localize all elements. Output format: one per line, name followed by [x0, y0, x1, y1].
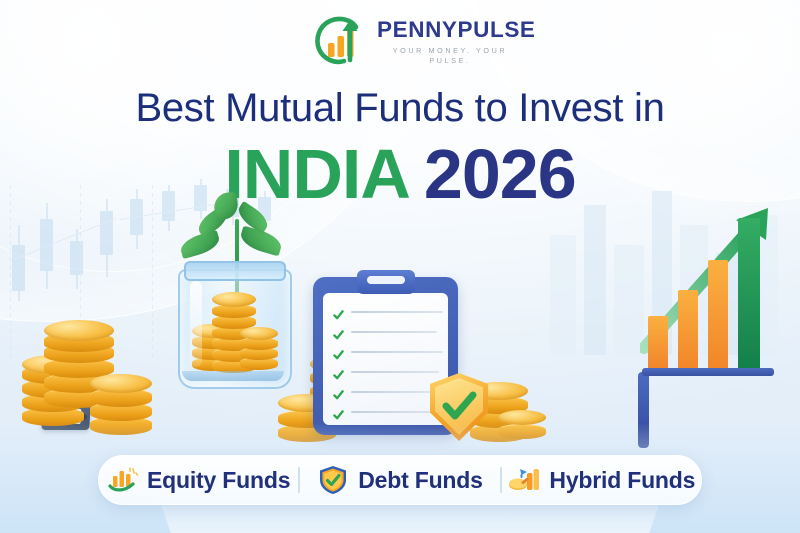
jar-highlight	[190, 281, 202, 367]
jar-rim	[184, 261, 286, 281]
category-label: Debt Funds	[358, 467, 483, 494]
check-icon	[333, 407, 344, 417]
growth-bars-arrow-circle-icon	[312, 16, 368, 68]
category-label: Hybrid Funds	[549, 467, 695, 494]
category-hybrid-funds[interactable]: Hybrid Funds	[502, 455, 702, 505]
chart-bar	[738, 218, 760, 368]
page-subheading: Best Mutual Funds to Invest in	[0, 86, 800, 130]
chart-baseline	[642, 368, 774, 376]
coins-bars-mix-icon	[508, 465, 540, 495]
chart-bar	[708, 260, 728, 368]
brand-logo[interactable]: PENNYPULSE YOUR MONEY. YOUR PULSE.	[312, 14, 527, 70]
growth-bar-chart	[640, 200, 790, 390]
category-label: Equity Funds	[147, 467, 290, 494]
shield-check-icon	[317, 465, 349, 495]
chart-bar	[678, 290, 698, 368]
check-icon	[333, 347, 344, 357]
check-icon	[333, 387, 344, 397]
poster-canvas: PENNYPULSE YOUR MONEY. YOUR PULSE. Best …	[0, 0, 800, 533]
category-debt-funds[interactable]: Debt Funds	[300, 455, 500, 505]
clipboard-clasp	[357, 270, 415, 294]
bar-chart-growth-icon	[106, 465, 138, 495]
check-icon	[333, 367, 344, 377]
fund-category-bar: Equity Funds Debt Funds	[98, 455, 702, 505]
brand-text: PENNYPULSE YOUR MONEY. YOUR PULSE.	[377, 17, 536, 66]
check-icon	[333, 327, 344, 337]
brand-tagline: YOUR MONEY. YOUR PULSE.	[377, 46, 523, 67]
check-icon	[333, 307, 344, 317]
category-equity-funds[interactable]: Equity Funds	[98, 455, 298, 505]
coin-jar-with-plant	[178, 235, 288, 385]
chart-bar	[648, 316, 668, 368]
jar-base	[182, 371, 284, 381]
brand-name: PENNYPULSE	[377, 19, 536, 42]
